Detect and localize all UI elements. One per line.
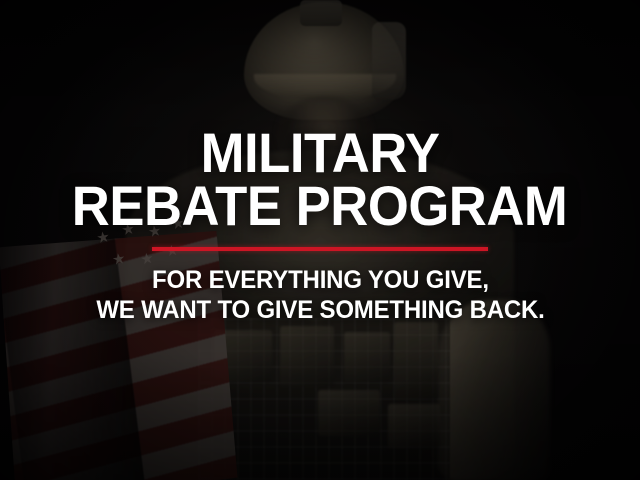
subhead-line-1: FOR EVERYTHING YOU GIVE, xyxy=(152,265,489,295)
promo-banner: MILITARY REBATE PROGRAM FOR EVERYTHING Y… xyxy=(0,0,640,480)
accent-divider xyxy=(152,247,488,251)
text-overlay: MILITARY REBATE PROGRAM FOR EVERYTHING Y… xyxy=(0,0,640,480)
subhead-line-2: WE WANT TO GIVE SOMETHING BACK. xyxy=(96,295,544,325)
headline-line-1: MILITARY xyxy=(201,126,440,179)
headline-line-2: REBATE PROGRAM xyxy=(72,179,567,232)
